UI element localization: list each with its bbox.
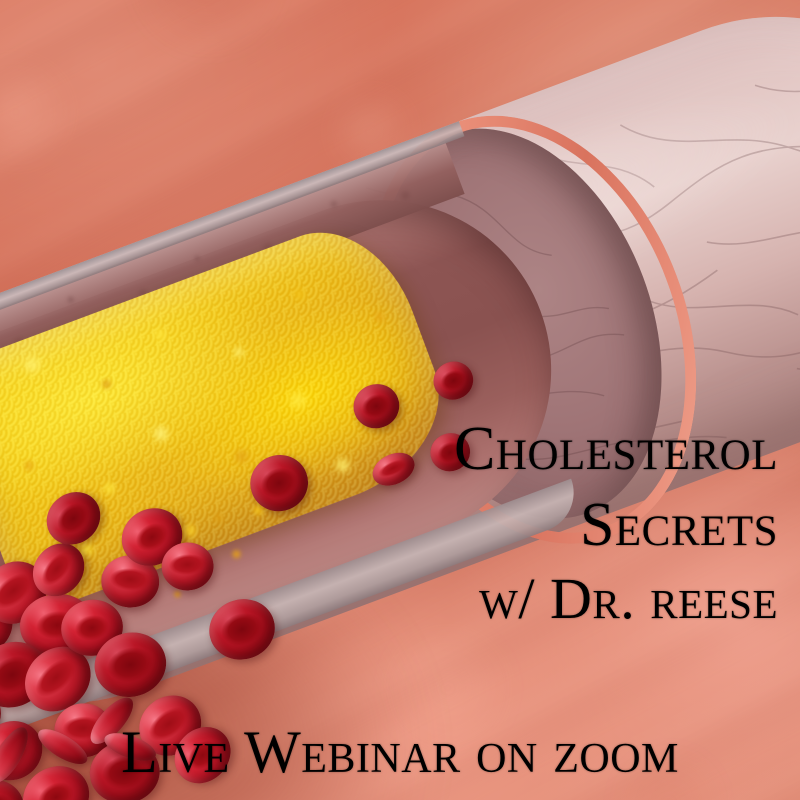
poster-canvas: Cholesterol Secrets w/ Dr. reese Live We…: [0, 0, 800, 800]
footer-text: Live Webinar on zoom: [0, 722, 800, 782]
title-line-2: Secrets: [158, 494, 778, 556]
title-block: Cholesterol Secrets w/ Dr. reese: [158, 418, 778, 628]
title-line-1: Cholesterol: [158, 418, 778, 480]
title-line-3: w/ Dr. reese: [158, 570, 778, 628]
